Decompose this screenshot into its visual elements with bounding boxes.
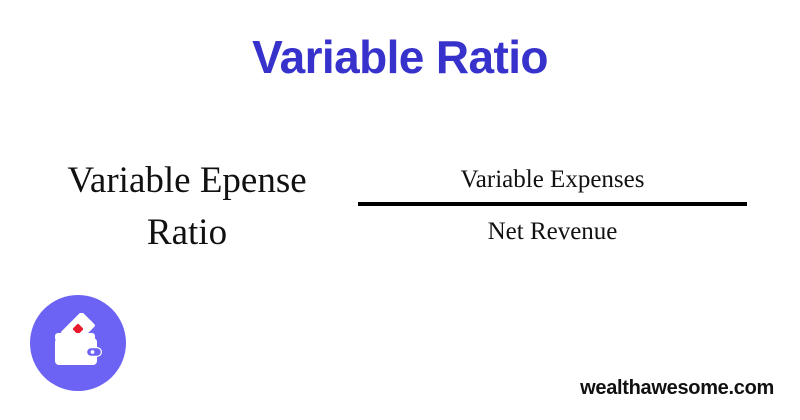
wallet-icon bbox=[48, 313, 108, 373]
formula-left-term-line-1: Variable Epense bbox=[22, 155, 352, 207]
page-title: Variable Ratio bbox=[0, 29, 800, 85]
formula-left-term-line-2: Ratio bbox=[22, 207, 352, 259]
formula-left-term: Variable Epense Ratio bbox=[22, 155, 352, 259]
site-watermark: wealthawesome.com bbox=[580, 377, 774, 400]
formula-fraction: Variable Expenses Net Revenue bbox=[358, 163, 747, 249]
fraction-denominator: Net Revenue bbox=[358, 206, 747, 249]
fraction-numerator: Variable Expenses bbox=[358, 163, 747, 202]
infographic-canvas: Variable Ratio Variable Epense Ratio Var… bbox=[0, 0, 800, 420]
wallet-badge bbox=[30, 295, 126, 391]
formula-row: Variable Epense Ratio Variable Expenses … bbox=[0, 155, 800, 265]
